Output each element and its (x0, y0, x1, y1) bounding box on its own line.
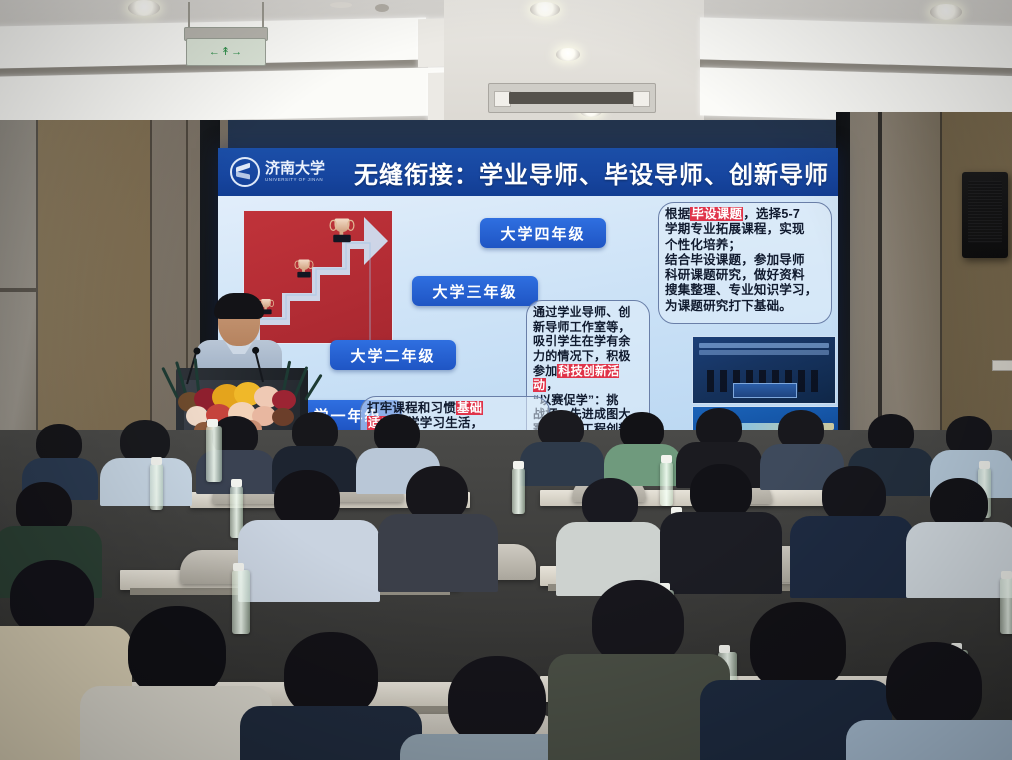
slide-header-bar: 济南大学 UNIVERSITY OF JINAN 无缝衔接：学业导师、毕设导师、… (218, 148, 838, 196)
audience-person (660, 464, 782, 588)
trophy-icon (332, 219, 352, 244)
callout-text: 结合毕设课题，参加导师 (665, 253, 825, 268)
wall-mounted-speaker (962, 172, 1008, 258)
water-bottle[interactable] (150, 464, 163, 510)
audience-person (238, 470, 380, 594)
audience-person (378, 466, 498, 586)
conference-photo-scene: ←↟→ 济南大学 UNIVERSITY OF JINAN (0, 0, 1012, 760)
presenter-hair (214, 293, 264, 319)
sprinkler-head (375, 4, 389, 12)
callout-text: 学期专业拓展课程，实现 (665, 222, 825, 237)
audience-person (790, 466, 914, 592)
grade-box-year2[interactable]: 大学二年级 (330, 340, 456, 370)
ceiling: ←↟→ (0, 0, 1012, 128)
water-bottle[interactable] (512, 468, 525, 514)
callout-text: 搜集整理、专业知识学习， (665, 283, 825, 298)
ceiling-light-panel (0, 67, 448, 124)
university-subtitle: UNIVERSITY OF JINAN (265, 178, 325, 183)
wall-switch-plate[interactable] (992, 360, 1012, 371)
callout-text: 力的情况下，积极 (533, 349, 643, 364)
year4-callout: 根据毕设课题，选择5-7 学期专业拓展课程，实现 个性化培养； 结合毕设课题，参… (658, 202, 832, 324)
callout-highlight: 毕设课题 (690, 207, 743, 221)
audience-person (556, 478, 664, 590)
ceiling-downlight (556, 48, 580, 61)
trophy-icon (296, 260, 311, 279)
grade-box-year3-label: 大学三年级 (432, 281, 517, 302)
callout-text: 根据 (665, 207, 690, 221)
callout-text: ，选择5-7 (743, 207, 800, 221)
audience-person (906, 478, 1012, 592)
audience-person (240, 632, 420, 760)
grade-box-year4[interactable]: 大学四年级 (480, 218, 606, 248)
callout-text: 个性化培养； (665, 238, 825, 253)
university-seal-icon (230, 157, 260, 187)
university-logo: 济南大学 UNIVERSITY OF JINAN (230, 153, 340, 191)
exit-sign-label: ←↟→ (209, 47, 243, 58)
callout-text: 为课题研究打下基础。 (665, 299, 825, 314)
grade-box-year3[interactable]: 大学三年级 (412, 276, 538, 306)
callout-text: 新导师工作室等， (533, 320, 643, 335)
slide-title: 无缝衔接：学业导师、毕设导师、创新导师 (354, 155, 829, 190)
competition-photo-award-ceremony (692, 336, 836, 404)
ceiling-sensor (330, 2, 352, 8)
audience-person (100, 420, 192, 500)
air-conditioner-vent (488, 83, 656, 113)
callout-text: “以赛促学”：挑 (533, 393, 643, 408)
callout-text: 吸引学生在学有余 (533, 334, 643, 349)
callout-text: 打牢课程和习惯 (367, 401, 456, 415)
ceiling-downlight (530, 2, 560, 17)
callout-text: 通过学业导师、创 (533, 305, 643, 320)
callout-text: ， (546, 378, 558, 392)
audience-area (0, 430, 1012, 760)
water-bottle[interactable] (1000, 578, 1012, 634)
emergency-exit-sign: ←↟→ (186, 38, 266, 66)
callout-highlight: 基础 (456, 401, 483, 415)
university-name: 济南大学 (265, 161, 325, 176)
callout-text: 科研课题研究，做好资料 (665, 268, 825, 283)
callout-text: 参加 (533, 364, 557, 378)
audience-person (520, 410, 604, 484)
grade-box-year4-label: 大学四年级 (500, 223, 585, 244)
water-bottle[interactable] (206, 426, 222, 482)
grade-box-year2-label: 大学二年级 (350, 345, 435, 366)
ceiling-downlight (930, 4, 962, 20)
audience-person (846, 642, 1012, 760)
ceiling-downlight (128, 0, 160, 16)
